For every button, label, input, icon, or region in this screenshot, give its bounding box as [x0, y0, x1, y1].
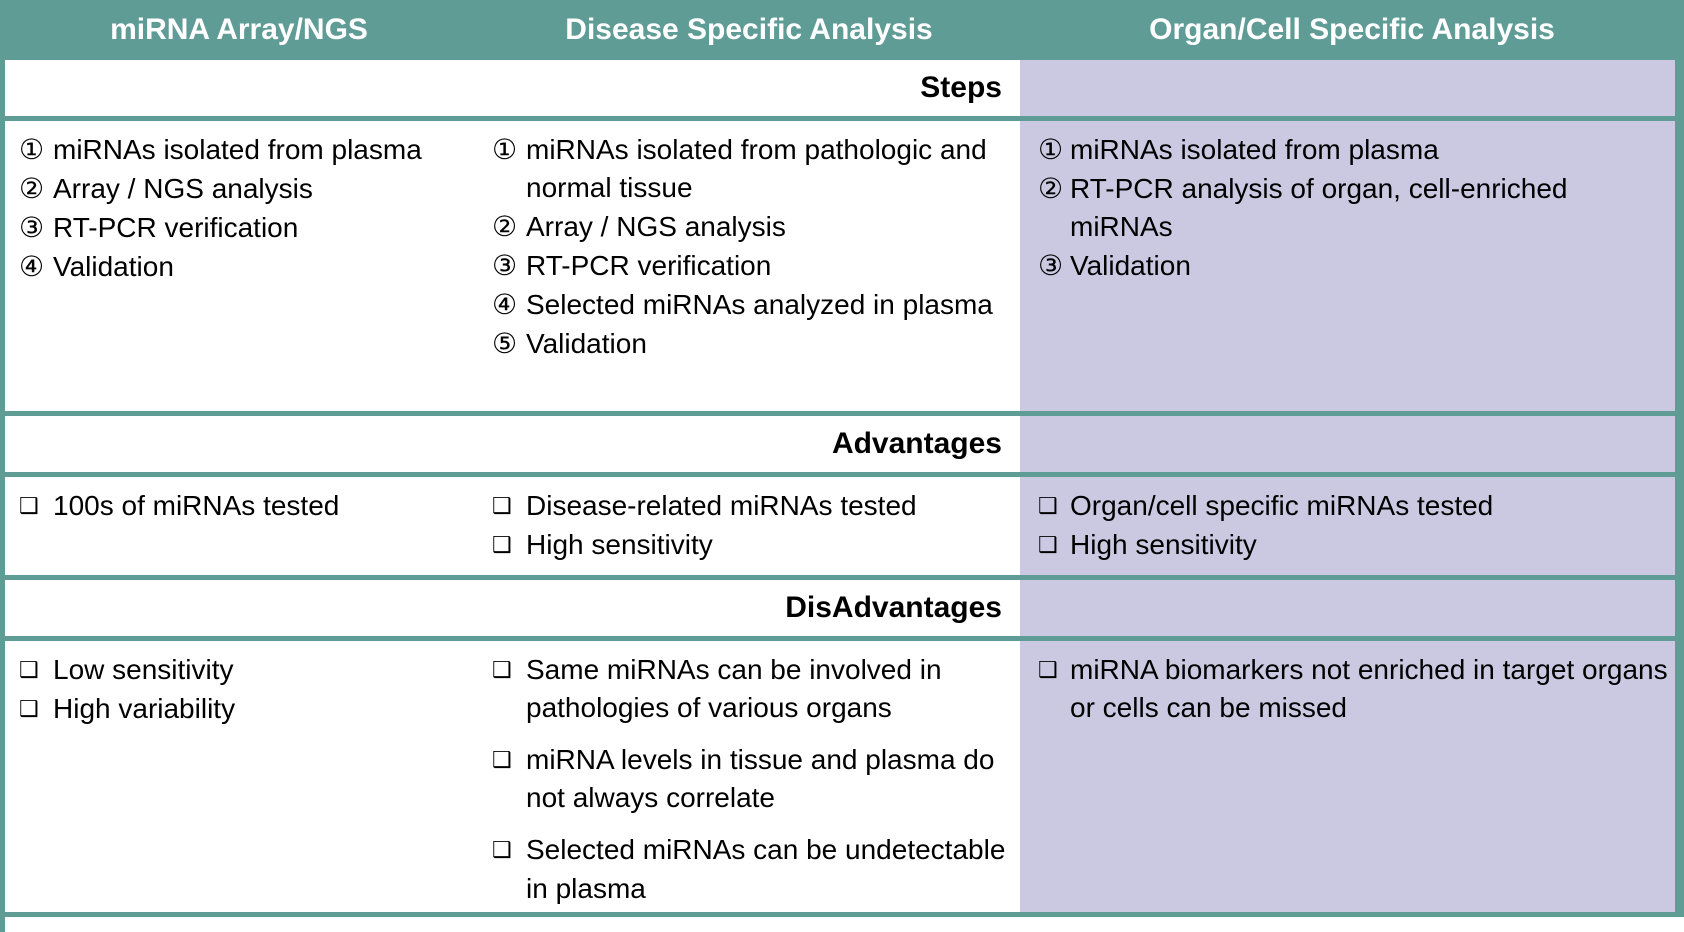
list-advantages-mirna-array-ngs: ❑ 100s of miRNAs tested	[19, 487, 466, 525]
list-item-text: High sensitivity	[526, 529, 713, 560]
circled-number-icon: ①	[492, 131, 517, 169]
cell-advantages-disease-specific-analysis: ❑ Disease-related miRNAs tested ❑ High s…	[478, 477, 1020, 575]
hollow-square-bullet-icon: ❑	[492, 526, 512, 564]
list-item: ❑ Disease-related miRNAs tested	[492, 487, 1008, 525]
hollow-square-bullet-icon: ❑	[1038, 487, 1058, 525]
section-title-row-advantages: Advantages	[0, 416, 1684, 472]
circled-number-icon: ⑤	[492, 325, 517, 363]
cell-advantages-organ-cell-specific-analysis: ❑ Organ/cell specific miRNAs tested ❑ Hi…	[1020, 477, 1684, 575]
list-item: ❑ High sensitivity	[492, 526, 1008, 564]
list-item-text: Selected miRNAs analyzed in plasma	[526, 289, 993, 320]
list-item-text: High sensitivity	[1070, 529, 1257, 560]
list-item-text: RT-PCR verification	[53, 212, 298, 243]
list-item-text: Validation	[1070, 250, 1191, 281]
list-item-text: miRNA levels in tissue and plasma do not…	[526, 744, 994, 813]
list-item: ❑ Same miRNAs can be involved in patholo…	[492, 651, 1008, 727]
cell-advantages-mirna-array-ngs: ❑ 100s of miRNAs tested	[5, 477, 478, 575]
list-steps-organ-cell-specific-analysis: ① miRNAs isolated from plasma ② RT-PCR a…	[1038, 131, 1672, 285]
hollow-square-bullet-icon: ❑	[492, 831, 512, 869]
list-item: ❑ High variability	[19, 690, 466, 728]
comparison-table: miRNA Array/NGS Disease Specific Analysi…	[0, 0, 1684, 917]
column-header-disease-specific-analysis: Disease Specific Analysis	[478, 0, 1020, 60]
list-item: ③ Validation	[1038, 247, 1672, 285]
list-item: ❑ Selected miRNAs can be undetectable in…	[492, 831, 1008, 907]
column-header-organ-cell-specific-analysis: Organ/Cell Specific Analysis	[1020, 0, 1684, 60]
list-disadvantages-organ-cell-specific-analysis: ❑ miRNA biomarkers not enriched in targe…	[1038, 651, 1672, 727]
list-item: ② RT-PCR analysis of organ, cell-enriche…	[1038, 170, 1672, 246]
list-item: ⑤ Validation	[492, 325, 1008, 363]
circled-number-icon: ④	[19, 248, 44, 286]
list-item-text: High variability	[53, 693, 235, 724]
cell-steps-organ-cell-specific-analysis: ① miRNAs isolated from plasma ② RT-PCR a…	[1020, 121, 1684, 411]
list-item-text: Same miRNAs can be involved in pathologi…	[526, 654, 942, 723]
list-item-text: miRNAs isolated from pathologic and norm…	[526, 134, 987, 203]
list-item-text: RT-PCR analysis of organ, cell-enriched …	[1070, 173, 1567, 242]
list-item: ❑ Low sensitivity	[19, 651, 466, 689]
table-bottom-border	[0, 912, 1684, 917]
column-header-mirna-array-ngs: miRNA Array/NGS	[0, 0, 478, 60]
list-steps-mirna-array-ngs: ① miRNAs isolated from plasma ② Array / …	[19, 131, 466, 286]
section-title-steps: Steps	[920, 71, 1002, 105]
circled-number-icon: ②	[492, 208, 517, 246]
circled-number-icon: ①	[1038, 131, 1063, 169]
section-title-row-steps: Steps	[0, 60, 1684, 116]
section-title-advantages: Advantages	[832, 427, 1002, 461]
list-item: ④ Validation	[19, 248, 466, 286]
list-item: ❑ High sensitivity	[1038, 526, 1672, 564]
list-steps-disease-specific-analysis: ① miRNAs isolated from pathologic and no…	[492, 131, 1008, 363]
list-disadvantages-mirna-array-ngs: ❑ Low sensitivity ❑ High variability	[19, 651, 466, 728]
list-item-text: miRNAs isolated from plasma	[1070, 134, 1439, 165]
list-item-text: Low sensitivity	[53, 654, 234, 685]
hollow-square-bullet-icon: ❑	[19, 690, 39, 728]
list-item-text: Organ/cell specific miRNAs tested	[1070, 490, 1493, 521]
list-item: ① miRNAs isolated from plasma	[19, 131, 466, 169]
content-row-disadvantages: ❑ Low sensitivity ❑ High variability ❑	[0, 641, 1684, 931]
content-row-steps: ① miRNAs isolated from plasma ② Array / …	[0, 121, 1684, 411]
list-advantages-disease-specific-analysis: ❑ Disease-related miRNAs tested ❑ High s…	[492, 487, 1008, 564]
circled-number-icon: ③	[19, 209, 44, 247]
circled-number-icon: ①	[19, 131, 44, 169]
list-item-text: Validation	[526, 328, 647, 359]
list-item-text: Array / NGS analysis	[526, 211, 786, 242]
content-row-advantages: ❑ 100s of miRNAs tested ❑ Disease-relate…	[0, 477, 1684, 575]
circled-number-icon: ④	[492, 286, 517, 324]
hollow-square-bullet-icon: ❑	[492, 741, 512, 779]
list-item: ① miRNAs isolated from plasma	[1038, 131, 1672, 169]
list-item-text: RT-PCR verification	[526, 250, 771, 281]
list-item: ③ RT-PCR verification	[19, 209, 466, 247]
hollow-square-bullet-icon: ❑	[492, 651, 512, 689]
circled-number-icon: ③	[1038, 247, 1063, 285]
circled-number-icon: ②	[19, 170, 44, 208]
cell-disadvantages-organ-cell-specific-analysis: ❑ miRNA biomarkers not enriched in targe…	[1020, 641, 1684, 931]
cell-steps-disease-specific-analysis: ① miRNAs isolated from pathologic and no…	[478, 121, 1020, 411]
table-right-border	[1675, 0, 1684, 917]
section-title-disadvantages: DisAdvantages	[785, 591, 1002, 625]
list-item: ② Array / NGS analysis	[492, 208, 1008, 246]
hollow-square-bullet-icon: ❑	[19, 487, 39, 525]
hollow-square-bullet-icon: ❑	[492, 487, 512, 525]
hollow-square-bullet-icon: ❑	[1038, 526, 1058, 564]
circled-number-icon: ③	[492, 247, 517, 285]
cell-steps-mirna-array-ngs: ① miRNAs isolated from plasma ② Array / …	[5, 121, 478, 411]
list-item: ❑ miRNA levels in tissue and plasma do n…	[492, 741, 1008, 817]
list-item-text: 100s of miRNAs tested	[53, 490, 339, 521]
list-item-text: miRNAs isolated from plasma	[53, 134, 422, 165]
hollow-square-bullet-icon: ❑	[19, 651, 39, 689]
list-item: ④ Selected miRNAs analyzed in plasma	[492, 286, 1008, 324]
list-advantages-organ-cell-specific-analysis: ❑ Organ/cell specific miRNAs tested ❑ Hi…	[1038, 487, 1672, 564]
list-item-text: Array / NGS analysis	[53, 173, 313, 204]
list-disadvantages-disease-specific-analysis: ❑ Same miRNAs can be involved in patholo…	[492, 651, 1008, 907]
list-item: ① miRNAs isolated from pathologic and no…	[492, 131, 1008, 207]
table-body: Steps ① miRNAs isolated from plasma ② Ar…	[0, 60, 1684, 917]
list-item: ❑ miRNA biomarkers not enriched in targe…	[1038, 651, 1672, 727]
hollow-square-bullet-icon: ❑	[1038, 651, 1058, 689]
cell-disadvantages-mirna-array-ngs: ❑ Low sensitivity ❑ High variability	[5, 641, 478, 931]
section-title-row-disadvantages: DisAdvantages	[0, 580, 1684, 636]
list-item-text: Disease-related miRNAs tested	[526, 490, 917, 521]
table-header-row: miRNA Array/NGS Disease Specific Analysi…	[0, 0, 1684, 60]
list-item-text: Validation	[53, 251, 174, 282]
cell-disadvantages-disease-specific-analysis: ❑ Same miRNAs can be involved in patholo…	[478, 641, 1020, 931]
circled-number-icon: ②	[1038, 170, 1063, 208]
list-item: ❑ 100s of miRNAs tested	[19, 487, 466, 525]
list-item: ❑ Organ/cell specific miRNAs tested	[1038, 487, 1672, 525]
list-item-text: miRNA biomarkers not enriched in target …	[1070, 654, 1668, 723]
list-item-text: Selected miRNAs can be undetectable in p…	[526, 834, 1005, 903]
list-item: ③ RT-PCR verification	[492, 247, 1008, 285]
list-item: ② Array / NGS analysis	[19, 170, 466, 208]
